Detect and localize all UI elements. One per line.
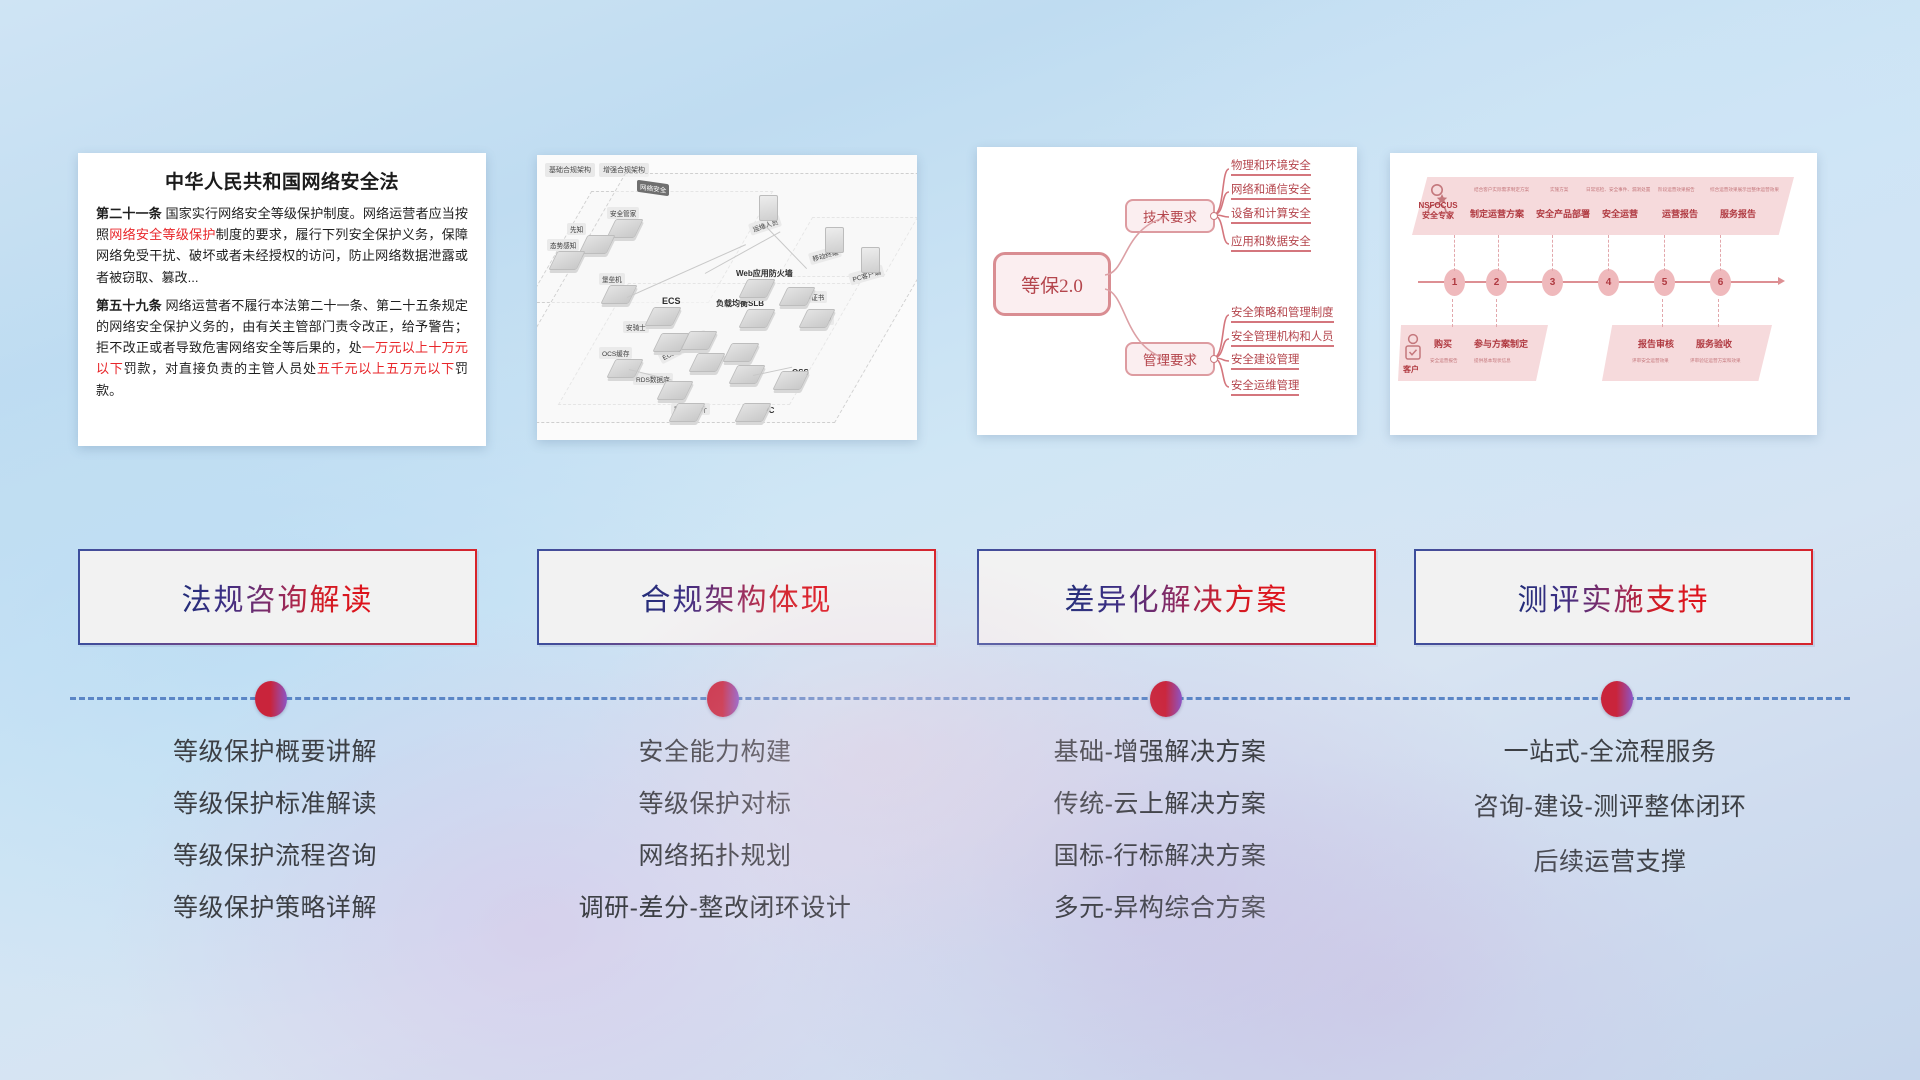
- list-item: 基础-增强解决方案: [945, 740, 1375, 765]
- headline-box-3[interactable]: 差异化解决方案: [977, 549, 1376, 645]
- headline-box-1[interactable]: 法规咨询解读: [78, 549, 477, 645]
- timeline-dashed-line: [70, 697, 1850, 700]
- timeline-dot-2[interactable]: [707, 681, 739, 717]
- timeline-dot-3[interactable]: [1150, 681, 1182, 717]
- list-item: 等级保护概要讲解: [60, 740, 490, 765]
- list-item: 等级保护策略详解: [60, 896, 490, 921]
- poster-canvas: 中华人民共和国网络安全法 第二十一条 国家实行网络安全等级保护制度。网络运营者应…: [0, 0, 1920, 1080]
- detail-column-1: 等级保护概要讲解 等级保护标准解读 等级保护流程咨询 等级保护策略详解: [60, 740, 490, 948]
- list-item: 等级保护标准解读: [60, 792, 490, 817]
- headline-label-1: 法规咨询解读: [182, 575, 374, 619]
- list-item: 多元-异构综合方案: [945, 896, 1375, 921]
- headline-box-2[interactable]: 合规架构体现: [537, 549, 936, 645]
- headline-label-3: 差异化解决方案: [1065, 575, 1289, 619]
- headline-box-4[interactable]: 测评实施支持: [1414, 549, 1813, 645]
- headline-label-2: 合规架构体现: [641, 575, 833, 619]
- list-item: 后续运营支撑: [1390, 850, 1830, 875]
- timeline-dot-4[interactable]: [1601, 681, 1633, 717]
- detail-column-2: 安全能力构建 等级保护对标 网络拓扑规划 调研-差分-整改闭环设计: [500, 740, 930, 948]
- list-item: 传统-云上解决方案: [945, 792, 1375, 817]
- detail-column-4: 一站式-全流程服务 咨询-建设-测评整体闭环 后续运营支撑: [1390, 740, 1830, 905]
- headline-label-4: 测评实施支持: [1518, 575, 1710, 619]
- list-item: 安全能力构建: [500, 740, 930, 765]
- list-item: 网络拓扑规划: [500, 844, 930, 869]
- list-item: 国标-行标解决方案: [945, 844, 1375, 869]
- list-item: 咨询-建设-测评整体闭环: [1390, 795, 1830, 820]
- list-item: 等级保护对标: [500, 792, 930, 817]
- detail-column-3: 基础-增强解决方案 传统-云上解决方案 国标-行标解决方案 多元-异构综合方案: [945, 740, 1375, 948]
- list-item: 调研-差分-整改闭环设计: [500, 896, 930, 921]
- list-item: 等级保护流程咨询: [60, 844, 490, 869]
- timeline-dot-1[interactable]: [255, 681, 287, 717]
- list-item: 一站式-全流程服务: [1390, 740, 1830, 765]
